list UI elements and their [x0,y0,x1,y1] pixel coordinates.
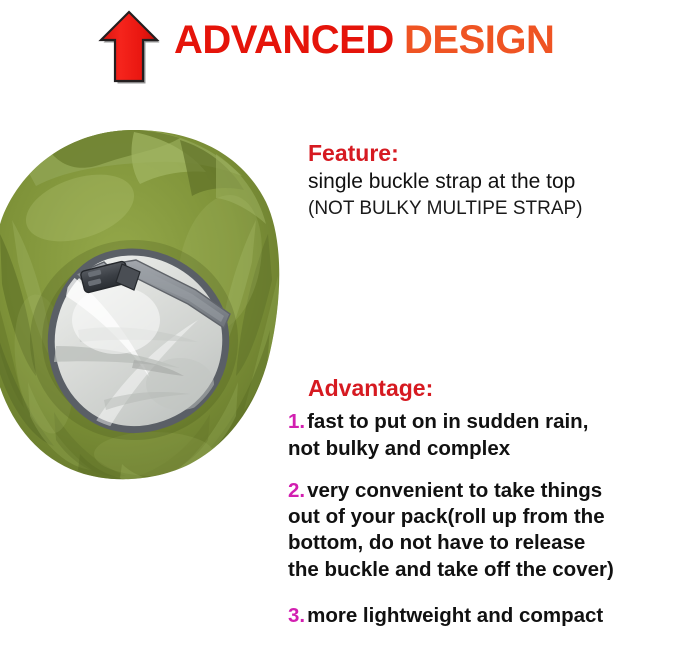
advantage-item-1: 1.fast to put on in sudden rain, not bul… [288,409,678,461]
advantage-item-2-text-1: very convenient to take things [307,479,602,502]
advantage-item-2-number: 2. [288,479,305,502]
advantage-item-1-number: 1. [288,410,305,433]
header-banner: ADVANCED DESIGN [0,0,679,95]
title-design: DESIGN [404,18,554,63]
infographic-page: ADVANCED DESIGN [0,0,679,646]
advantage-heading: Advantage: [288,374,678,403]
product-image-rain-cover [0,124,284,494]
advantage-item-1-text-1: fast to put on in sudden rain, [307,410,588,433]
advantage-item-3: 3.more lightweight and compact [288,603,678,629]
advantage-item-1-line-2: not bulky and complex [288,436,678,462]
advantage-item-3-number: 3. [288,604,305,627]
advantage-item-2-line-3: bottom, do not have to release [288,530,678,556]
advantage-section: Advantage: 1.fast to put on in sudden ra… [288,374,678,629]
advantage-item-2-line-4: the buckle and take off the cover) [288,557,678,583]
advantage-item-2-line-1: 2.very convenient to take things [288,478,678,504]
feature-line-2: (NOT BULKY MULTIPE STRAP) [308,196,674,221]
up-arrow-icon [98,10,160,84]
advantage-item-2: 2.very convenient to take things out of … [288,478,678,583]
title-advanced: ADVANCED [174,18,394,63]
advantage-item-3-line-1: 3.more lightweight and compact [288,603,678,629]
advantage-item-3-text-1: more lightweight and compact [307,604,603,627]
feature-heading: Feature: [308,139,674,168]
advantage-item-2-line-2: out of your pack(roll up from the [288,504,678,530]
advantage-item-1-line-1: 1.fast to put on in sudden rain, [288,409,678,435]
feature-section: Feature: single buckle strap at the top … [308,139,674,221]
feature-line-1: single buckle strap at the top [308,168,674,195]
